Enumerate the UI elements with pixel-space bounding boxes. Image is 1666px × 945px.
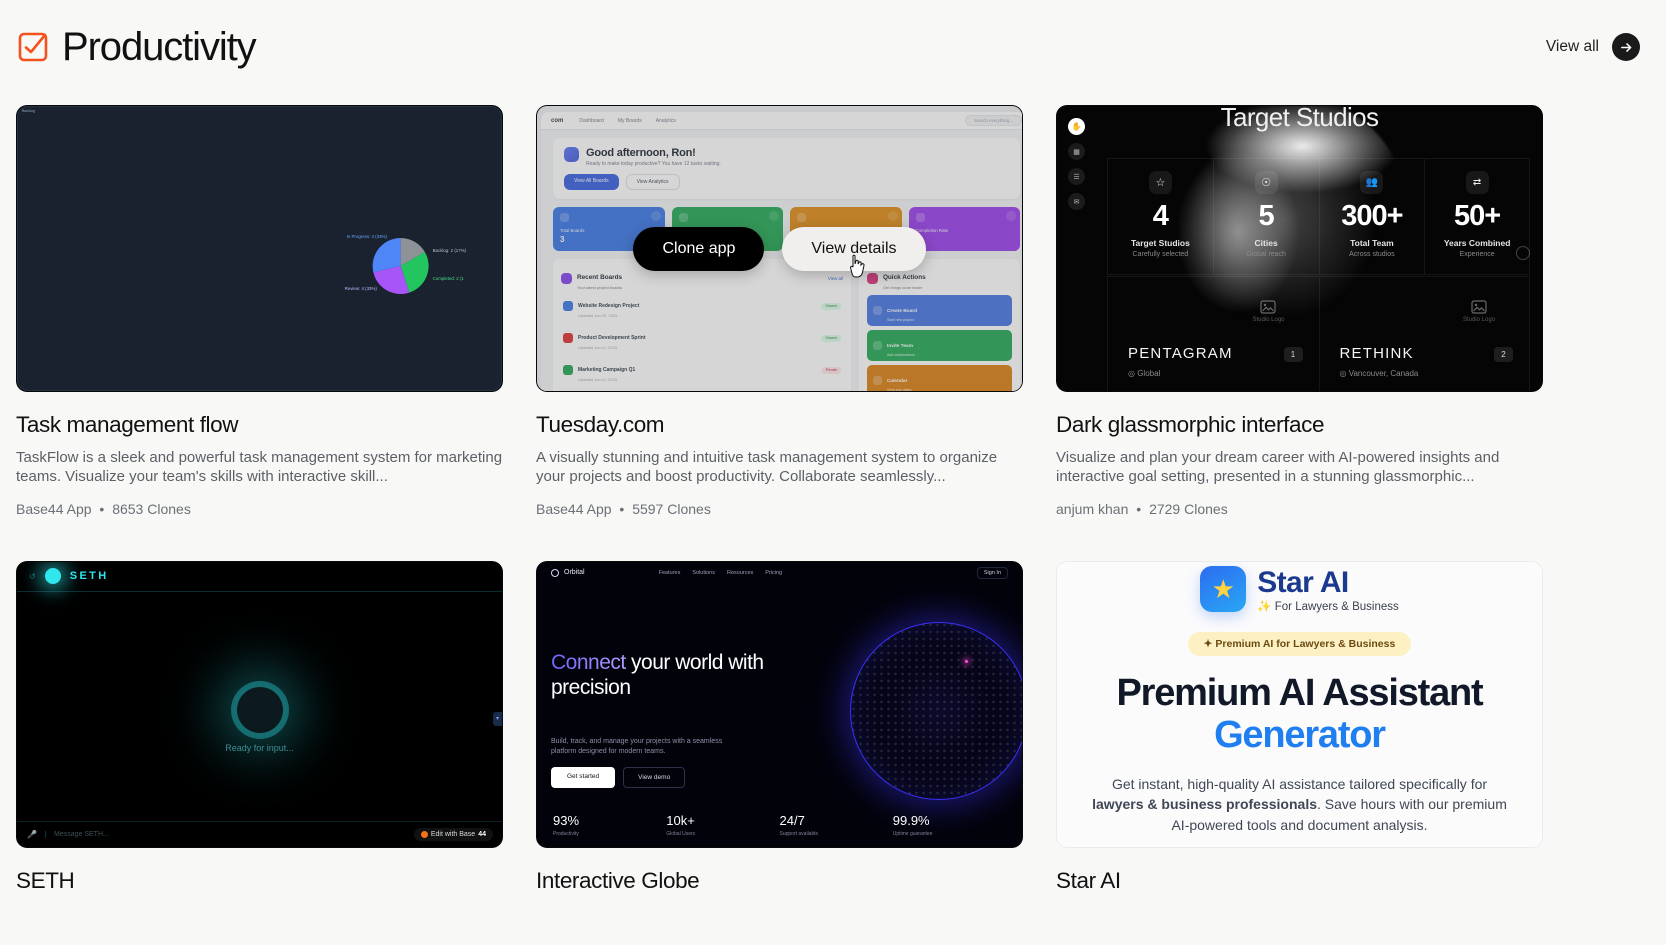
studio-index: 1: [1284, 347, 1303, 362]
base44-logo-icon: [421, 831, 428, 838]
activity-row[interactable]: Landing Page Design for Summer SaleDesig…: [38, 252, 297, 271]
app-card[interactable]: TaskFlow Dashboard Team Tasks AI Allocat…: [16, 105, 503, 517]
mouse-cursor: [848, 254, 870, 280]
get-started-button[interactable]: Get started: [551, 767, 615, 788]
orbital-logo-icon: [551, 569, 559, 577]
card-description: Visualize and plan your dream career wit…: [1056, 448, 1543, 487]
clone-app-button[interactable]: Clone app: [633, 227, 764, 271]
stat-card: ☉ 5 Cities Global reach: [1213, 158, 1319, 275]
image-placeholder-icon: Studio Logo: [1463, 299, 1495, 323]
orbital-stats: 93%Productivity 10k+Global Users 24/7Sup…: [537, 813, 1022, 837]
card-meta: anjum khan • 2729 Clones: [1056, 501, 1543, 517]
refresh-icon[interactable]: ↺: [29, 572, 36, 581]
card-hover-overlay: Clone app View details: [537, 106, 1022, 391]
arrow-right-icon: [1612, 33, 1640, 61]
stat-value: 93%: [553, 813, 666, 828]
seth-status: Ready for input...: [17, 743, 502, 753]
stat-card: ⇄ 50+ Years Combined Experience: [1424, 158, 1530, 275]
card-meta: Base44 App • 5597 Clones: [536, 501, 1023, 517]
stat-label: Uptime guarantee: [893, 831, 1006, 837]
stat-label: Years Combined: [1429, 238, 1525, 248]
card-title[interactable]: Tuesday.com: [536, 412, 1023, 438]
view-all-label: View all: [1546, 38, 1599, 56]
stat-value: 4: [1112, 200, 1209, 233]
list-icon[interactable]: ☰: [1068, 168, 1085, 185]
seth-orb-icon: [45, 568, 61, 584]
stat-label: Global Users: [666, 831, 779, 837]
meta-separator: •: [1132, 501, 1145, 517]
app-thumbnail-star-ai[interactable]: ★ Star AI ✨ For Lawyers & Business ✦ Pre…: [1056, 561, 1543, 848]
edit-with-base44-badge[interactable]: Edit with Base 44: [414, 828, 493, 841]
orbital-sign-in-button[interactable]: Sign In: [977, 567, 1008, 579]
meta-separator: •: [615, 501, 628, 517]
app-card[interactable]: Orbital Features Solutions Resources Pri…: [536, 561, 1023, 894]
studio-card[interactable]: Studio Logo PENTAGRAM ◎ Global 1: [1107, 276, 1319, 391]
svg-text:Review: 4 (33%): Review: 4 (33%): [344, 286, 377, 291]
studio-card[interactable]: Studio Logo RETHINK ◎ Vancouver, Canada …: [1319, 276, 1531, 391]
brand: Productivity: [18, 27, 256, 67]
stat-value: 24/7: [780, 813, 893, 828]
star-ai-brand: Star AI: [1257, 566, 1399, 600]
studio-logo-caption: Studio Logo: [1463, 317, 1495, 323]
star-icon: ☆: [1149, 171, 1172, 194]
headline-accent: Generator: [1057, 714, 1542, 757]
seth-message-input[interactable]: Message SETH...: [45, 831, 407, 838]
studio-logo-caption: Studio Logo: [1252, 317, 1284, 323]
globe-highlight-dot: [965, 660, 968, 663]
stat-value: 300+: [1324, 200, 1421, 233]
card-clones: 8653 Clones: [112, 501, 191, 517]
mail-icon[interactable]: ✉: [1068, 193, 1085, 210]
svg-text:Completed: 2 (1: Completed: 2 (1: [432, 276, 464, 281]
glassmorphic-studios: Studio Logo PENTAGRAM ◎ Global 1 Studio …: [1107, 276, 1530, 391]
card-clones: 2729 Clones: [1149, 501, 1228, 517]
stat-sub: Across studios: [1324, 251, 1421, 258]
stat-value: 5: [1218, 200, 1315, 233]
card-author: Base44 App: [536, 501, 612, 517]
users-icon: 👥: [1360, 171, 1383, 194]
stat-card: 24/7Support available: [780, 813, 893, 837]
card-author: anjum khan: [1056, 501, 1128, 517]
seth-name: SETH: [70, 570, 109, 582]
globe-icon: ☉: [1255, 171, 1278, 194]
star-ai-headline: Premium AI Assistant Generator: [1057, 672, 1542, 757]
card-title[interactable]: Interactive Globe: [536, 868, 1023, 894]
card-title[interactable]: SETH: [16, 868, 503, 894]
card-description: A visually stunning and intuitive task m…: [536, 448, 1023, 487]
stat-value: 10k+: [666, 813, 779, 828]
meta-separator: •: [95, 501, 108, 517]
studio-location: ◎ Global: [1128, 369, 1160, 378]
app-thumbnail-tuesday[interactable]: com Dashboard My Boards Analytics Search…: [536, 105, 1023, 392]
studio-name: RETHINK: [1340, 345, 1414, 362]
checkbox-check-icon: [18, 32, 48, 62]
orbital-headline: Connect your world with precision: [551, 650, 781, 701]
orbital-nav-pricing[interactable]: Pricing: [765, 570, 782, 576]
glassmorphic-side-rail[interactable]: ✋ ▦ ☰ ✉: [1068, 118, 1085, 210]
seth-main-orb: [237, 687, 283, 733]
stat-card: 93%Productivity: [553, 813, 666, 837]
stat-sub: Global reach: [1218, 251, 1315, 258]
edit-badge-number: 44: [478, 831, 486, 838]
exchange-icon: ⇄: [1466, 171, 1489, 194]
stat-label: Productivity: [553, 831, 666, 837]
chart-icon[interactable]: ▦: [1068, 143, 1085, 160]
app-grid: TaskFlow Dashboard Team Tasks AI Allocat…: [0, 78, 1666, 894]
seth-center: Ready for input...: [17, 687, 502, 753]
card-clones: 5597 Clones: [632, 501, 711, 517]
headline-accent: Connect: [551, 651, 626, 674]
page-title: Productivity: [62, 27, 256, 67]
stat-value: 50+: [1429, 200, 1525, 233]
stat-card: 👥 300+ Total Team Across studios: [1319, 158, 1425, 275]
glassmorphic-corner-dot: [1516, 246, 1530, 260]
stat-card: 99.9%Uptime guarantee: [893, 813, 1006, 837]
view-all-button[interactable]: View all: [1546, 33, 1648, 61]
card-title[interactable]: Dark glassmorphic interface: [1056, 412, 1543, 438]
orbital-nav-resources[interactable]: Resources: [727, 570, 753, 576]
studio-index: 2: [1494, 347, 1513, 362]
app-card[interactable]: ★ Star AI ✨ For Lawyers & Business ✦ Pre…: [1056, 561, 1543, 894]
svg-text:Backlog: 2 (17%): Backlog: 2 (17%): [432, 248, 466, 253]
edit-badge-label: Edit with Base: [431, 831, 475, 838]
hand-icon[interactable]: ✋: [1068, 118, 1085, 135]
stat-card: ☆ 4 Target Studios Carefully selected: [1107, 158, 1213, 275]
glassmorphic-title: Target Studios: [1057, 106, 1542, 133]
pie-chart: In Progress: 4 (33%) Backlog: 2 (17%) Co…: [320, 230, 481, 304]
orbital-nav-solutions[interactable]: Solutions: [692, 570, 715, 576]
app-thumbnail-glassmorphic[interactable]: Target Studios ✋ ▦ ☰ ✉ ☆ 4 Target Studio…: [1056, 105, 1543, 392]
app-card[interactable]: Target Studios ✋ ▦ ☰ ✉ ☆ 4 Target Studio…: [1056, 105, 1543, 517]
stat-label: Support available: [780, 831, 893, 837]
seth-side-tab[interactable]: ▾: [493, 712, 502, 726]
headline-main: Premium AI Assistant: [1117, 672, 1483, 714]
view-demo-button[interactable]: View demo: [623, 767, 685, 788]
globe-graphic: [850, 622, 1022, 800]
app-thumbnail-seth[interactable]: ↺ SETH Ready for input... ▾ 🎤 Message SE…: [16, 561, 503, 848]
card-description: TaskFlow is a sleek and powerful task ma…: [16, 448, 503, 487]
stat-label: Target Studios: [1112, 238, 1209, 248]
page-header: Productivity View all: [0, 0, 1666, 78]
stat-sub: Carefully selected: [1112, 251, 1209, 258]
card-title[interactable]: Star AI: [1056, 868, 1543, 894]
app-thumbnail-taskflow[interactable]: TaskFlow Dashboard Team Tasks AI Allocat…: [16, 105, 503, 392]
star-icon: ★: [1200, 566, 1246, 612]
orbital-brand: Orbital: [564, 569, 585, 576]
svg-text:In Progress: 4 (33%): In Progress: 4 (33%): [346, 234, 387, 239]
orbital-nav[interactable]: Features Solutions Resources Pricing: [659, 570, 782, 576]
star-ai-paragraph: Get instant, high-quality AI assistance …: [1085, 774, 1515, 835]
stat-card: 10k+Global Users: [666, 813, 779, 837]
app-thumbnail-globe[interactable]: Orbital Features Solutions Resources Pri…: [536, 561, 1023, 848]
mic-icon[interactable]: 🎤: [26, 828, 38, 840]
app-card[interactable]: com Dashboard My Boards Analytics Search…: [536, 105, 1023, 517]
stat-value: 99.9%: [893, 813, 1006, 828]
stat-label: Total Team: [1324, 238, 1421, 248]
premium-badge: ✦ Premium AI for Lawyers & Business: [1188, 632, 1412, 656]
card-author: Base44 App: [16, 501, 92, 517]
app-card[interactable]: ↺ SETH Ready for input... ▾ 🎤 Message SE…: [16, 561, 503, 894]
card-meta: Base44 App • 8653 Clones: [16, 501, 503, 517]
image-placeholder-icon: Studio Logo: [1252, 299, 1284, 323]
stat-label: Cities: [1218, 238, 1315, 248]
studio-location: ◎ Vancouver, Canada: [1340, 369, 1419, 378]
glassmorphic-stats: ☆ 4 Target Studios Carefully selected ☉ …: [1107, 158, 1530, 275]
taskflow-activity-panel: ◍ Recent Activity LinkedIn Ad Campaign O…: [30, 211, 305, 391]
orbital-paragraph: Build, track, and manage your projects w…: [551, 737, 731, 758]
star-ai-tagline: ✨ For Lawyers & Business: [1257, 599, 1399, 613]
orbital-nav-features[interactable]: Features: [659, 570, 681, 576]
studio-name: PENTAGRAM: [1128, 345, 1233, 362]
card-title[interactable]: Task management flow: [16, 412, 503, 438]
stat-sub: Experience: [1429, 251, 1525, 258]
